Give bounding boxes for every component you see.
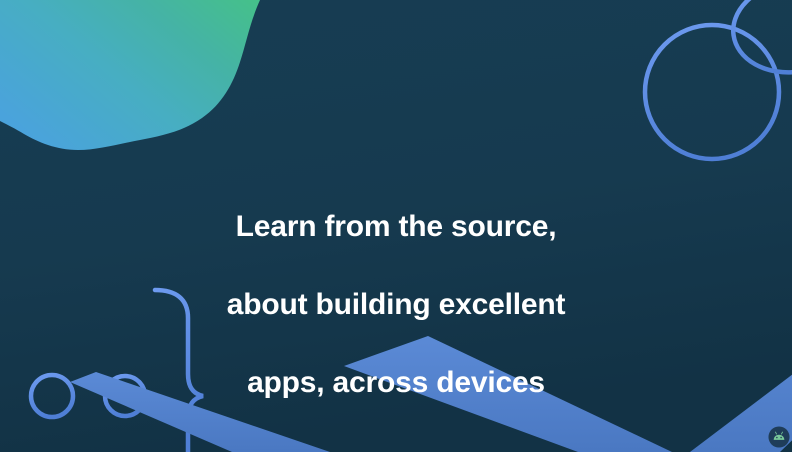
headline-line-3: apps, across devices [0,363,792,402]
headline-line-2: about building excellent [0,285,792,324]
headline-line-1: Learn from the source, [0,207,792,246]
page-title: Learn from the source, about building ex… [0,168,792,441]
android-logo-icon [768,426,790,448]
presentation-slide: Learn from the source, about building ex… [0,0,792,452]
